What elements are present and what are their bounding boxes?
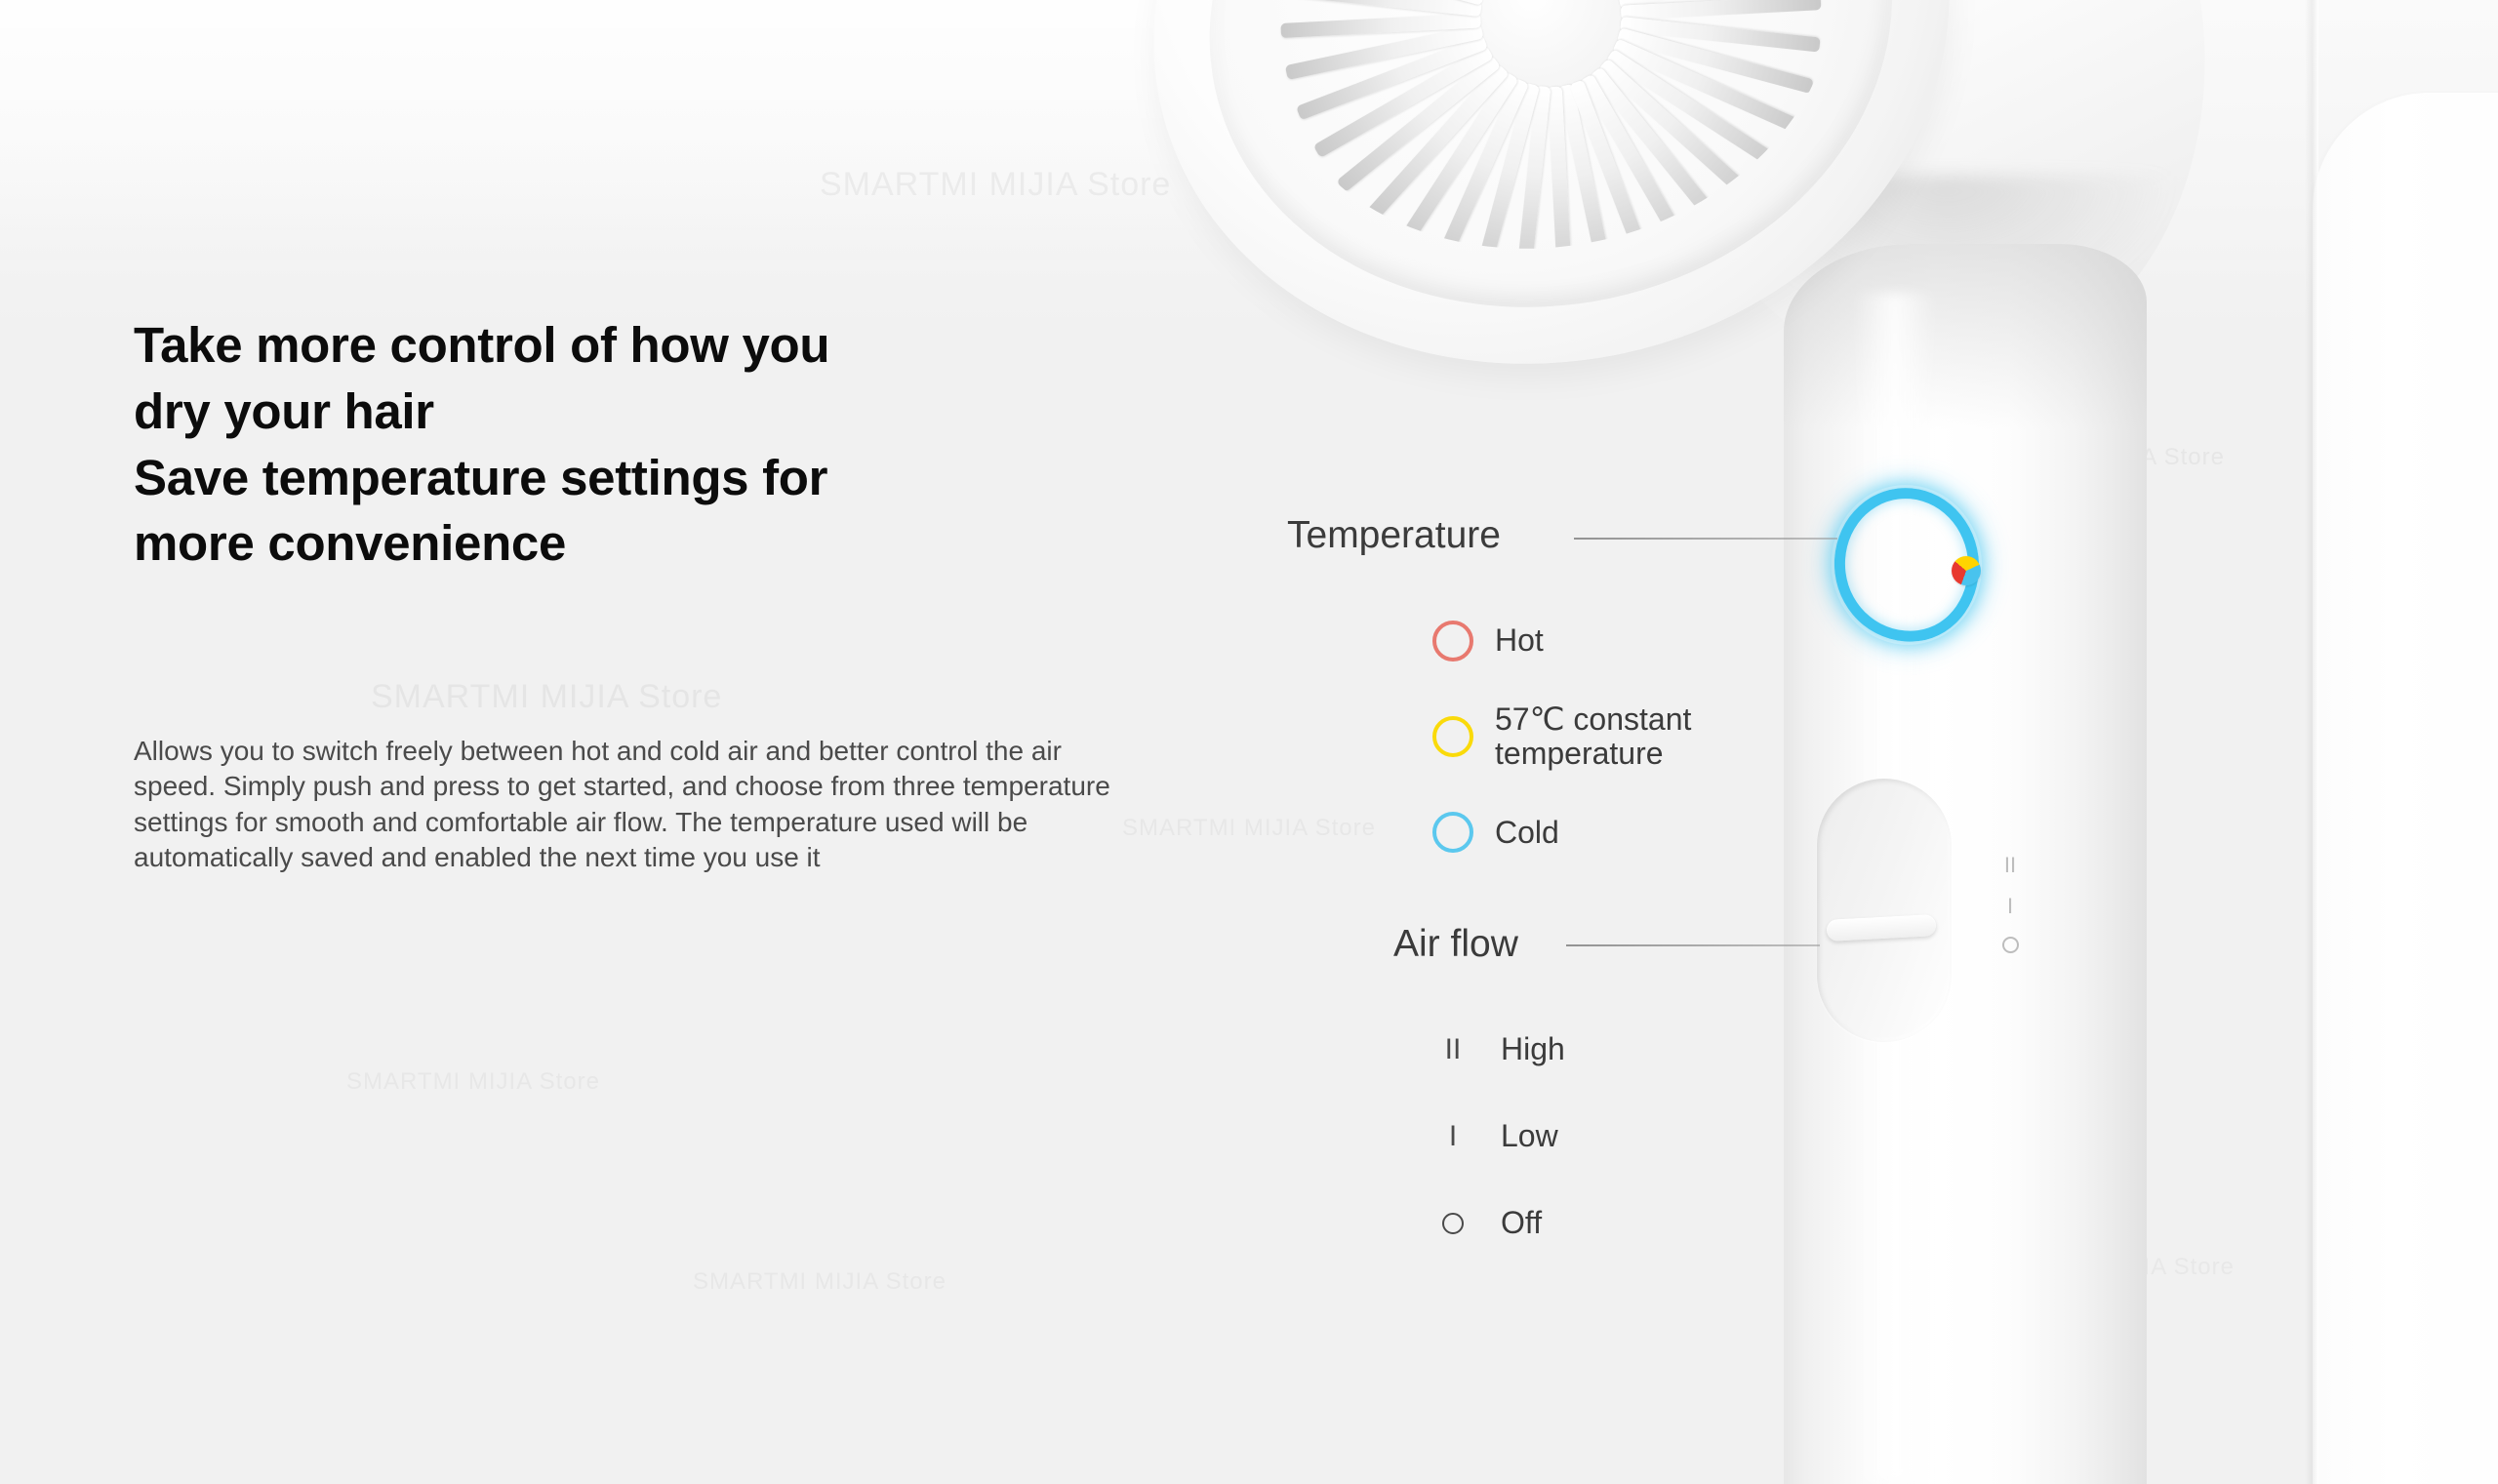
headline-line-4: more convenience [134,510,1109,577]
headline-line-3: Save temperature settings for [134,445,1109,511]
legend-item-constant-temperature: 57℃ constant temperature [1432,702,1691,771]
airflow-legend: II High I Low Off [1432,1032,1565,1294]
legend-label-hot: Hot [1495,623,1544,658]
legend-item-high: II High [1432,1032,1565,1066]
hot-circle-icon [1432,621,1473,662]
cold-circle-icon [1432,812,1473,853]
page-title: Take more control of how you dry your ha… [134,312,1109,577]
headline-line-2: dry your hair [134,379,1109,445]
legend-label-off: Off [1501,1206,1542,1240]
legend-item-hot: Hot [1432,621,1691,662]
off-icon [1432,1213,1473,1234]
legend-item-cold: Cold [1432,812,1691,853]
callout-label-airflow: Air flow [1393,923,1518,966]
leader-line-temperature [1574,538,1837,540]
copy-layer: Take more control of how you dry your ha… [0,0,2498,1484]
temperature-legend: Hot 57℃ constant temperature Cold [1432,621,1691,853]
callout-label-temperature: Temperature [1287,514,1501,557]
high-speed-icon: II [1432,1033,1473,1066]
legend-label-cold: Cold [1495,816,1559,850]
legend-label-high: High [1501,1032,1565,1066]
body-paragraph: Allows you to switch freely between hot … [134,734,1148,876]
leader-line-airflow [1566,944,1820,946]
legend-item-low: I Low [1432,1119,1565,1153]
constant-temperature-circle-icon [1432,716,1473,757]
off-circle-icon [1442,1213,1464,1234]
legend-label-constant-temperature: 57℃ constant temperature [1495,702,1691,771]
headline-line-1: Take more control of how you [134,312,1109,379]
low-speed-icon: I [1432,1120,1473,1153]
legend-label-low: Low [1501,1119,1558,1153]
legend-item-off: Off [1432,1206,1565,1240]
promo-banner: SMARTMI MIJIA Store SMARTMI MIJIA Store … [0,0,2498,1484]
